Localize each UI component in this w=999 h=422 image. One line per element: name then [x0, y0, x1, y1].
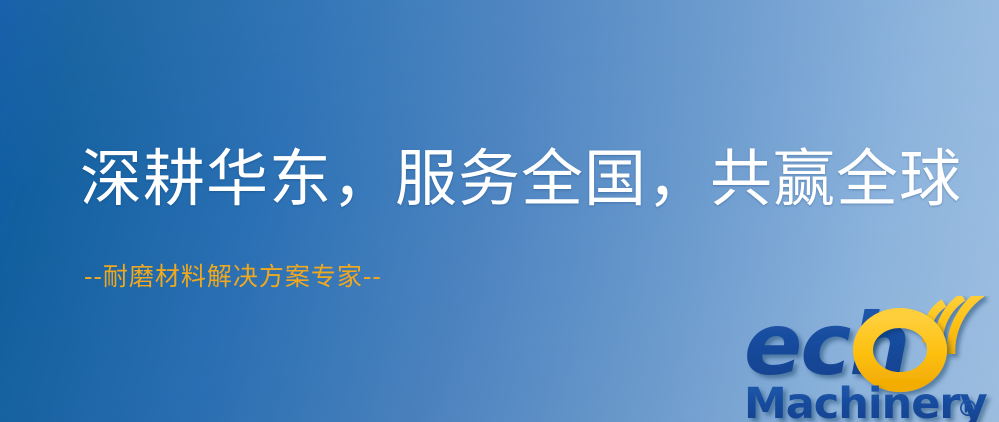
echo-machinery-logo[interactable]: ech Machinery ®: [744, 296, 999, 422]
logo-tagline: Machinery ®: [744, 379, 988, 422]
svg-text:®: ®: [957, 397, 979, 422]
hero-banner: 深耕华东，服务全国，共赢全球 --耐磨材料解决方案专家--: [0, 0, 999, 422]
logo-artwork: ech Machinery ®: [744, 296, 999, 422]
page-title: 深耕华东，服务全国，共赢全球: [80, 148, 962, 210]
svg-text:Machinery: Machinery: [744, 379, 988, 422]
page-subtitle: --耐磨材料解决方案专家--: [84, 264, 382, 289]
